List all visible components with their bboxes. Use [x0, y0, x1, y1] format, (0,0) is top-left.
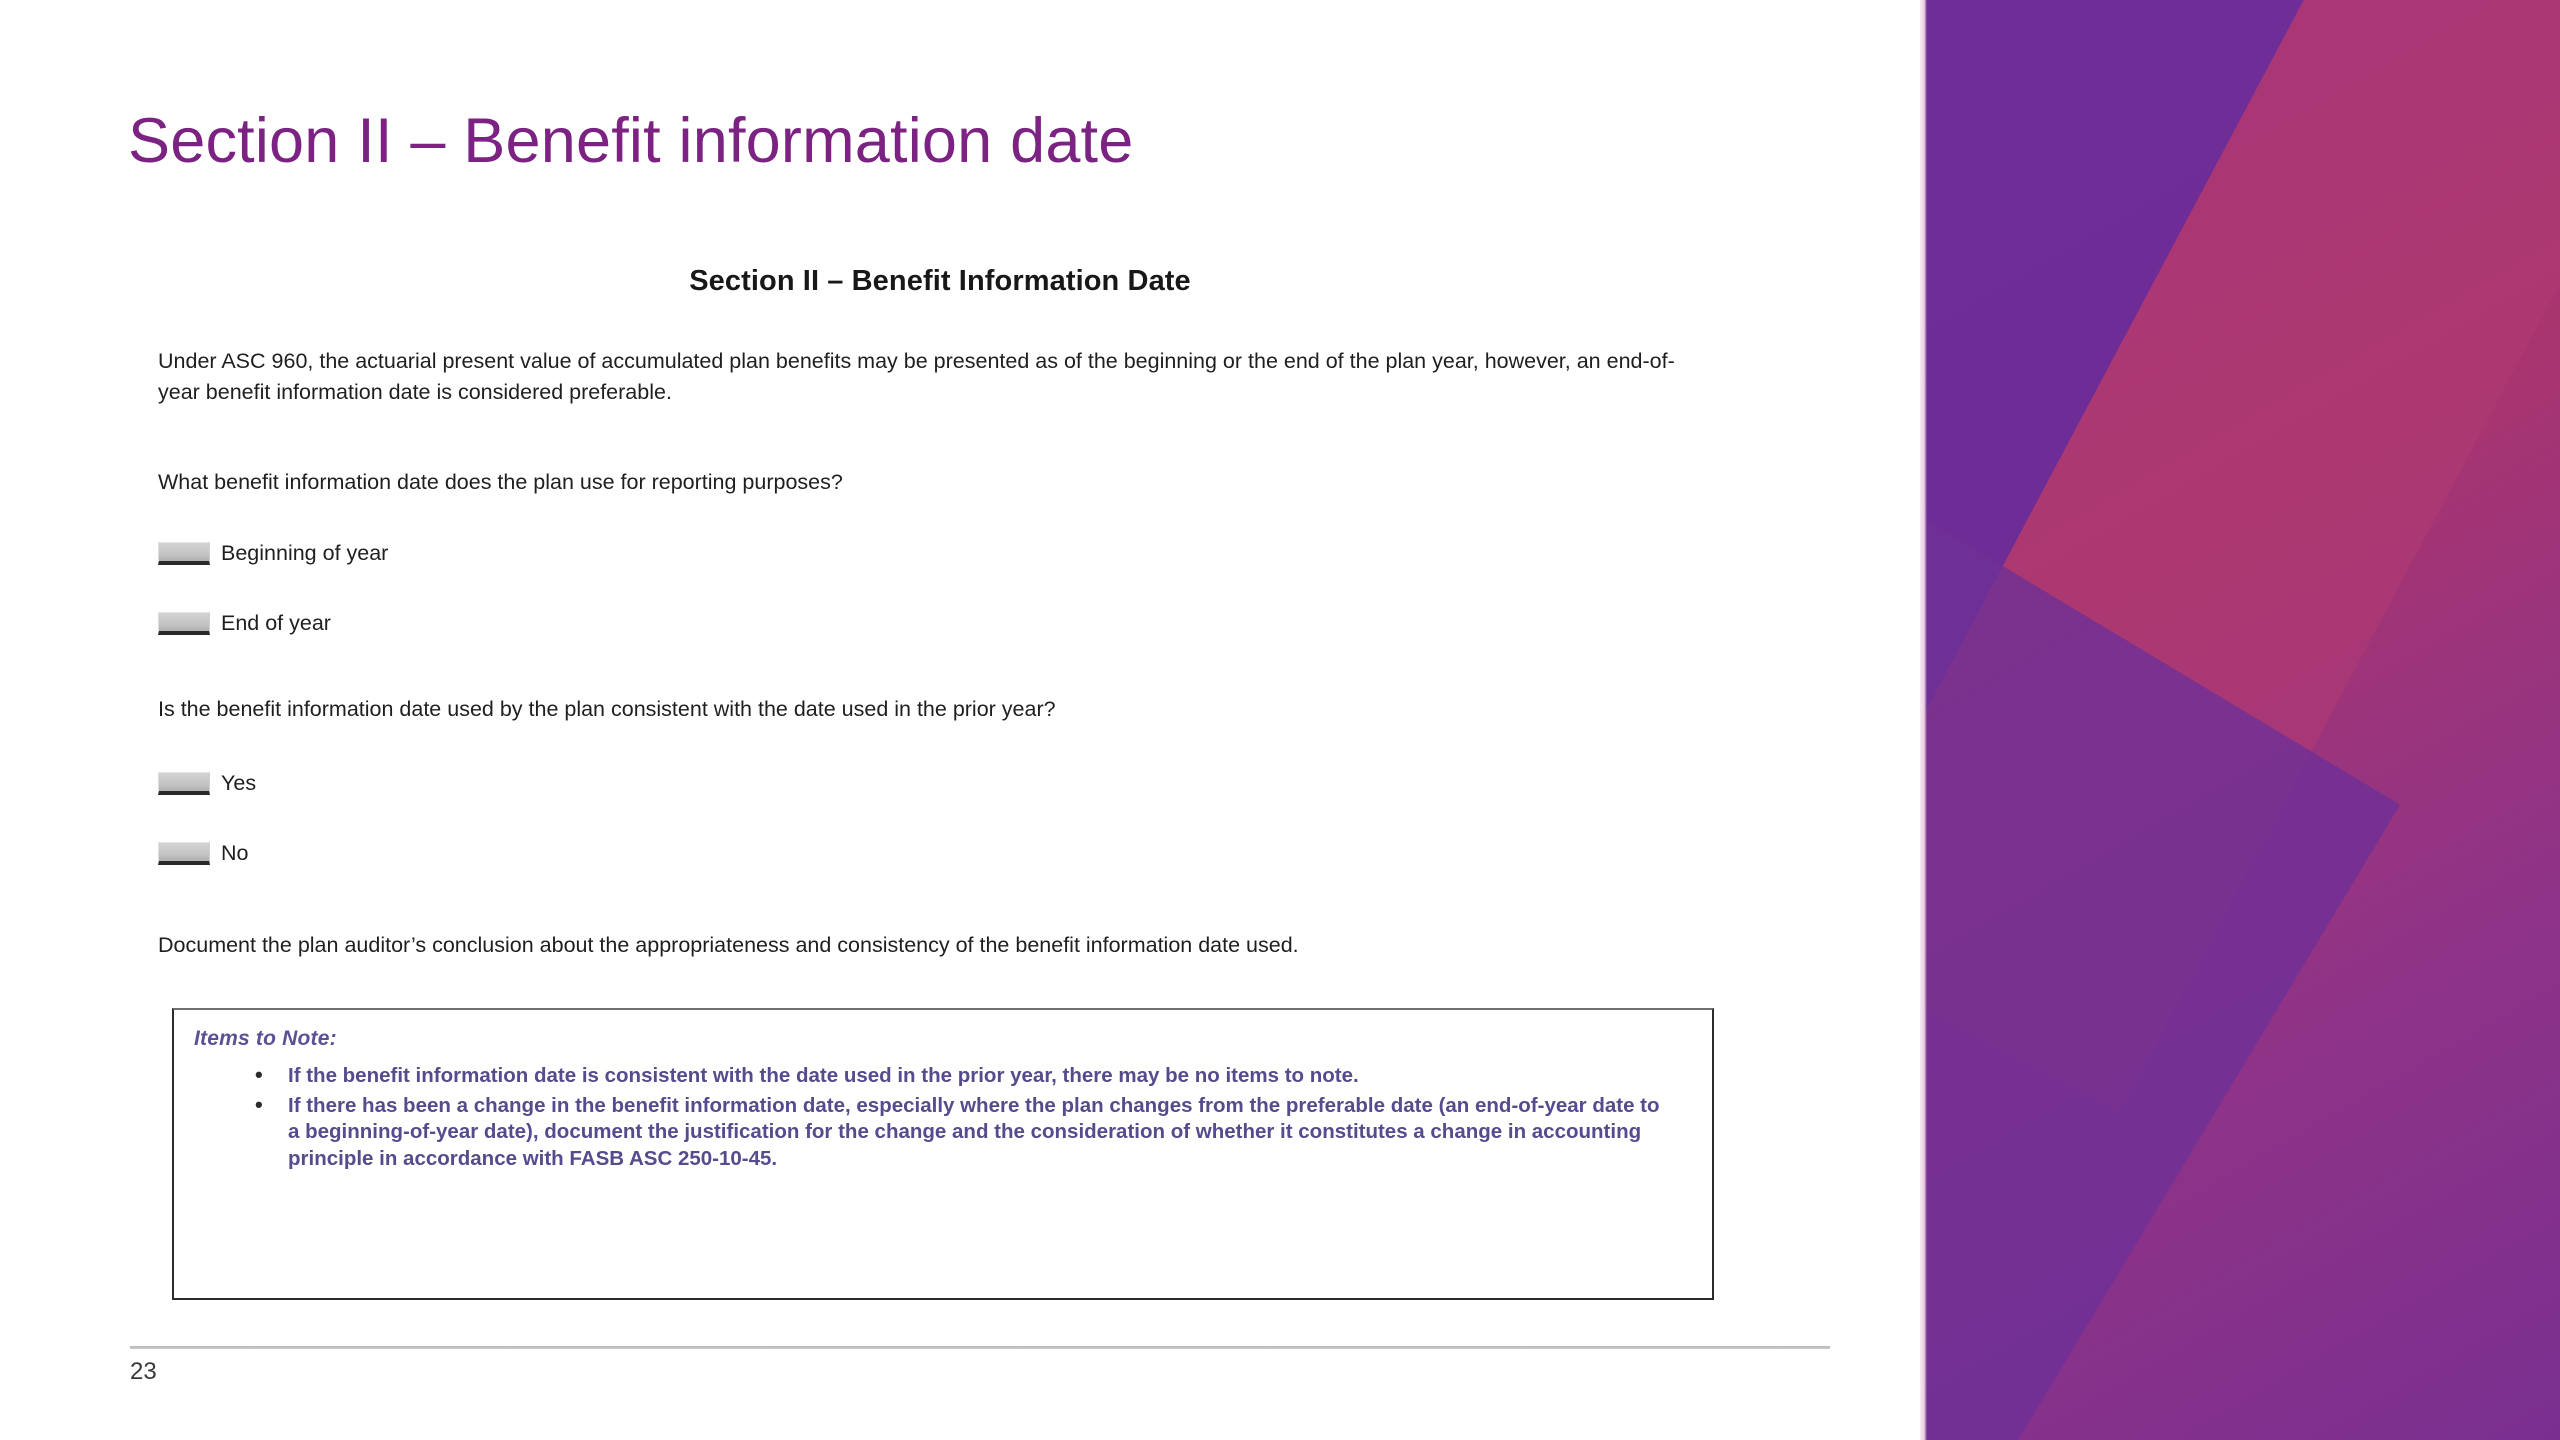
checkbox-no[interactable]: [158, 842, 210, 865]
list-item: If there has been a change in the benefi…: [246, 1093, 1676, 1173]
option-end-of-year[interactable]: End of year: [158, 612, 331, 635]
option-label-end-of-year: End of year: [221, 613, 331, 635]
embedded-document-image: Section II – Benefit Information Date Un…: [0, 230, 1900, 1310]
checkbox-end-of-year[interactable]: [158, 612, 210, 635]
decorative-panel-edge-highlight: [1920, 0, 1927, 1440]
option-label-no: No: [221, 843, 248, 865]
footer-divider: [130, 1346, 1830, 1349]
option-yes[interactable]: Yes: [158, 772, 256, 795]
list-item: If the benefit information date is consi…: [246, 1063, 1676, 1090]
document-heading: Section II – Benefit Information Date: [0, 265, 1880, 298]
document-intro-paragraph: Under ASC 960, the actuarial present val…: [158, 346, 1688, 408]
decorative-gradient-panel: [1920, 0, 2560, 1440]
page-title: Section II – Benefit information date: [128, 108, 1828, 174]
option-label-beginning-of-year: Beginning of year: [221, 543, 388, 565]
conclusion-instruction: Document the plan auditor’s conclusion a…: [158, 930, 1758, 961]
items-to-note-list: If the benefit information date is consi…: [246, 1063, 1676, 1176]
slide-canvas: Section II – Benefit information date Se…: [0, 0, 2560, 1440]
option-no[interactable]: No: [158, 842, 248, 865]
items-to-note-title: Items to Note:: [194, 1027, 337, 1051]
question-consistency-prior-year: Is the benefit information date used by …: [158, 694, 1558, 725]
page-number: 23: [130, 1358, 157, 1386]
items-to-note-box: Items to Note: If the benefit informatio…: [172, 1008, 1714, 1300]
checkbox-beginning-of-year[interactable]: [158, 542, 210, 565]
question-benefit-information-date: What benefit information date does the p…: [158, 467, 1558, 498]
option-beginning-of-year[interactable]: Beginning of year: [158, 542, 388, 565]
checkbox-yes[interactable]: [158, 772, 210, 795]
option-label-yes: Yes: [221, 773, 256, 795]
